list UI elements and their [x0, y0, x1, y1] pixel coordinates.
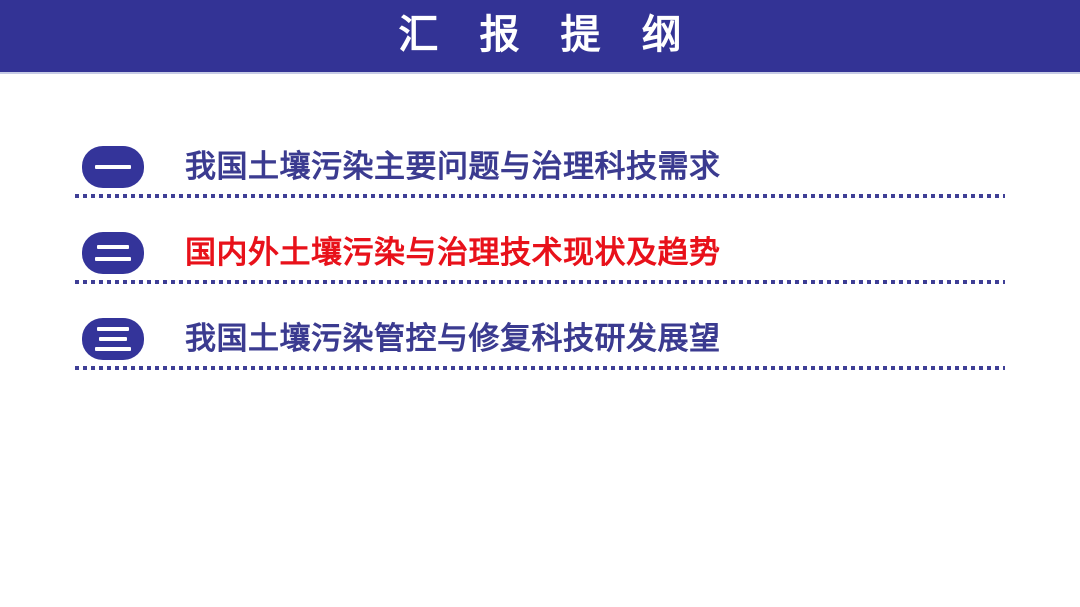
outline-item-2-divider	[75, 280, 1005, 284]
slide-canvas: 汇 报 提 纲 我国土壤污染主要问题与治理科技需求 国内外土壤污染与治理技术现状…	[0, 0, 1080, 607]
page-title: 汇 报 提 纲	[0, 0, 1080, 72]
outline-item-3-label: 我国土壤污染管控与修复科技研发展望	[185, 310, 721, 368]
header-underline-divider	[0, 72, 1080, 74]
header-banner: 汇 报 提 纲	[0, 0, 1080, 72]
outline-item-2[interactable]: 国内外土壤污染与治理技术现状及趋势	[0, 224, 1080, 310]
outline-item-2-label: 国内外土壤污染与治理技术现状及趋势	[185, 224, 721, 282]
outline-item-1-label: 我国土壤污染主要问题与治理科技需求	[185, 138, 721, 196]
numeral-badge-two	[82, 232, 144, 274]
numeral-badge-one	[82, 146, 144, 188]
numeral-badge-three	[82, 318, 144, 360]
outline-item-3[interactable]: 我国土壤污染管控与修复科技研发展望	[0, 310, 1080, 396]
outline-item-1[interactable]: 我国土壤污染主要问题与治理科技需求	[0, 138, 1080, 224]
numeral-one-icon	[82, 146, 144, 188]
outline-item-3-divider	[75, 366, 1005, 370]
outline-item-1-divider	[75, 194, 1005, 198]
numeral-two-icon	[82, 232, 144, 274]
numeral-three-icon	[82, 318, 144, 360]
